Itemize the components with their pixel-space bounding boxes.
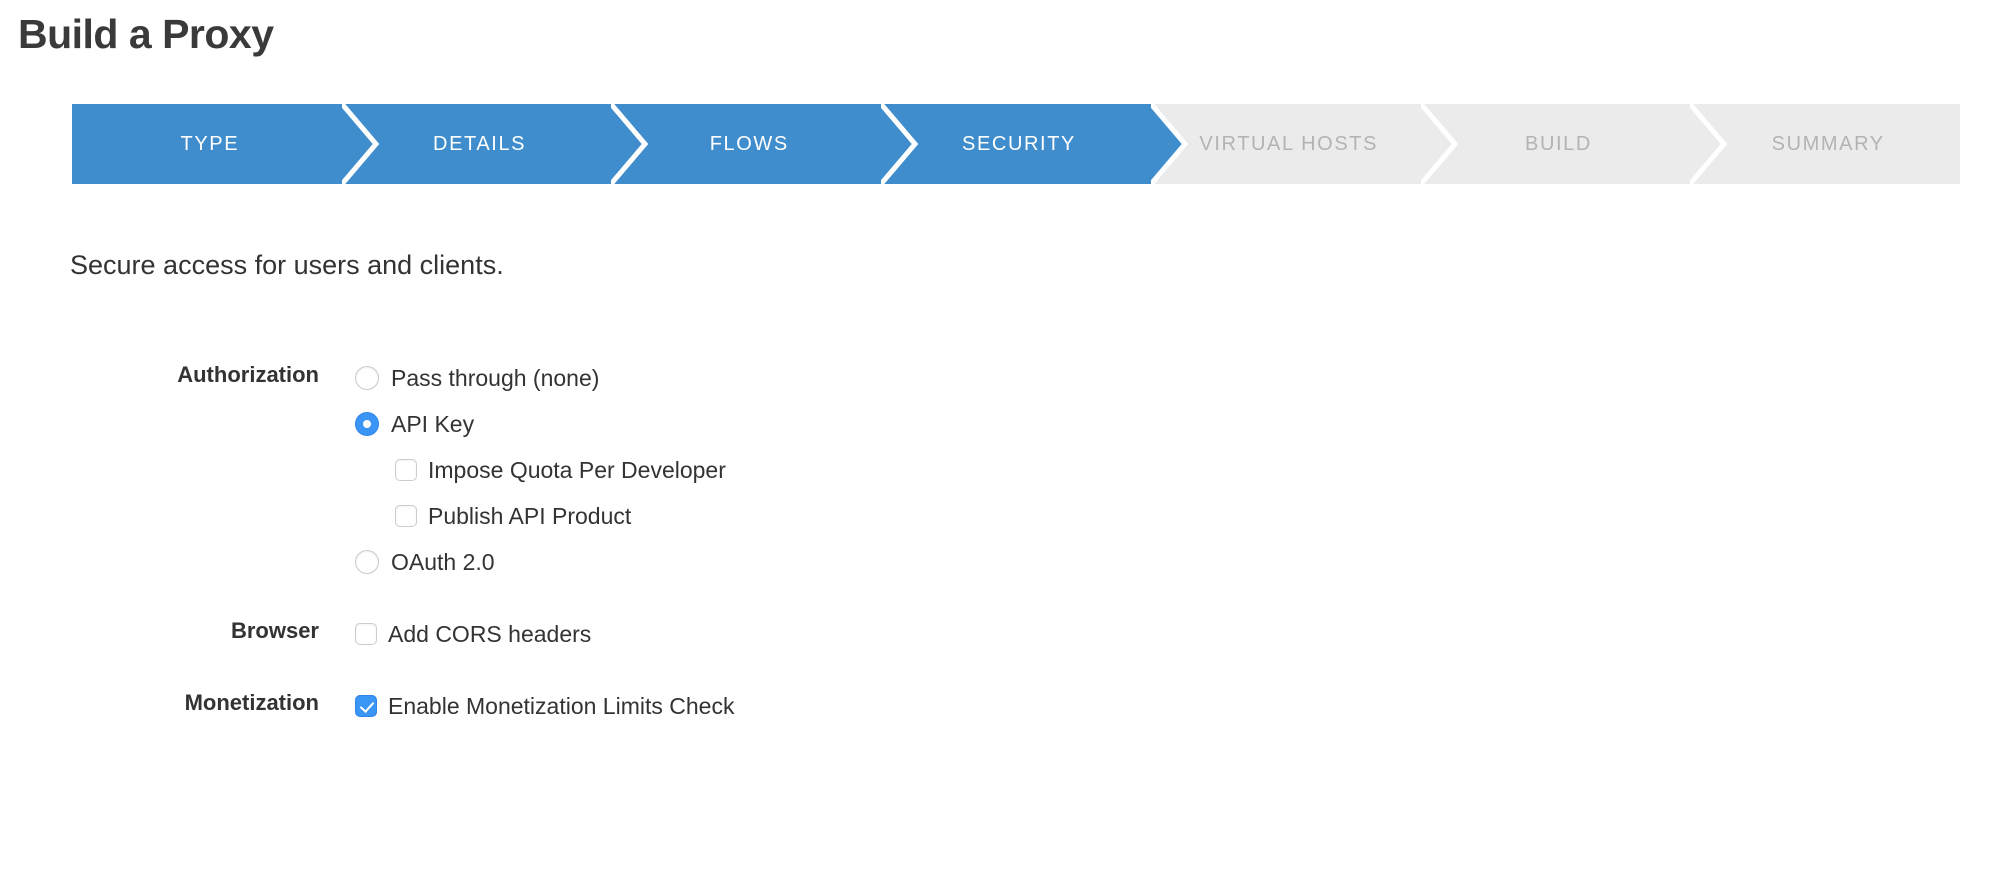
option-row-publish-api-product[interactable]: Publish API Product	[355, 493, 1200, 539]
option-row-impose-quota-per-developer[interactable]: Impose Quota Per Developer	[355, 447, 1200, 493]
radio-pass-through-none[interactable]	[355, 366, 379, 390]
field-control-group: Pass through (none)API KeyImpose Quota P…	[355, 355, 1200, 585]
wizard-step-summary[interactable]: SUMMARY	[1690, 104, 1960, 184]
wizard-step-label: TYPE	[175, 133, 240, 156]
checkbox-add-cors-headers[interactable]	[355, 623, 377, 645]
option-label: Add CORS headers	[388, 620, 591, 648]
wizard-step-details[interactable]: DETAILS	[342, 104, 612, 184]
radio-api-key[interactable]	[355, 412, 379, 436]
security-form: AuthorizationPass through (none)API KeyI…	[0, 355, 1200, 729]
option-label: Publish API Product	[428, 502, 631, 530]
field-spacer	[0, 657, 1200, 683]
option-row-enable-monetization-limits-check[interactable]: Enable Monetization Limits Check	[355, 683, 1200, 729]
option-label: OAuth 2.0	[391, 548, 495, 576]
wizard-step-label: FLOWS	[704, 133, 789, 156]
field-label: Browser	[0, 611, 355, 645]
option-label: Enable Monetization Limits Check	[388, 692, 734, 720]
option-row-api-key[interactable]: API Key	[355, 401, 1200, 447]
field-label: Monetization	[0, 683, 355, 717]
wizard-step-build[interactable]: BUILD	[1421, 104, 1691, 184]
option-row-add-cors-headers[interactable]: Add CORS headers	[355, 611, 1200, 657]
radio-oauth-2-0[interactable]	[355, 550, 379, 574]
option-label: Pass through (none)	[391, 364, 599, 392]
option-label: Impose Quota Per Developer	[428, 456, 726, 484]
checkbox-publish-api-product[interactable]	[395, 505, 417, 527]
field-control-group: Add CORS headers	[355, 611, 1200, 657]
wizard-step-label: SECURITY	[956, 133, 1076, 156]
wizard-step-virtual-hosts[interactable]: VIRTUAL HOSTS	[1151, 104, 1421, 184]
checkbox-impose-quota-per-developer[interactable]	[395, 459, 417, 481]
field-spacer	[0, 585, 1200, 611]
form-field-monetization: MonetizationEnable Monetization Limits C…	[0, 683, 1200, 729]
form-field-authorization: AuthorizationPass through (none)API KeyI…	[0, 355, 1200, 585]
wizard-step-label: BUILD	[1519, 133, 1592, 156]
field-label: Authorization	[0, 355, 355, 389]
wizard-step-label: DETAILS	[427, 133, 526, 156]
page-title: Build a Proxy	[18, 10, 274, 59]
checkbox-enable-monetization-limits-check[interactable]	[355, 695, 377, 717]
wizard-step-label: SUMMARY	[1766, 133, 1885, 156]
section-intro-text: Secure access for users and clients.	[70, 250, 504, 281]
field-control-group: Enable Monetization Limits Check	[355, 683, 1200, 729]
wizard-step-bar: TYPEDETAILSFLOWSSECURITYVIRTUAL HOSTSBUI…	[72, 104, 1960, 184]
wizard-step-security[interactable]: SECURITY	[881, 104, 1151, 184]
option-label: API Key	[391, 410, 474, 438]
wizard-step-label: VIRTUAL HOSTS	[1193, 133, 1378, 156]
form-field-browser: BrowserAdd CORS headers	[0, 611, 1200, 657]
wizard-step-flows[interactable]: FLOWS	[611, 104, 881, 184]
option-row-pass-through-none[interactable]: Pass through (none)	[355, 355, 1200, 401]
option-row-oauth-2-0[interactable]: OAuth 2.0	[355, 539, 1200, 585]
wizard-step-type[interactable]: TYPE	[72, 104, 342, 184]
